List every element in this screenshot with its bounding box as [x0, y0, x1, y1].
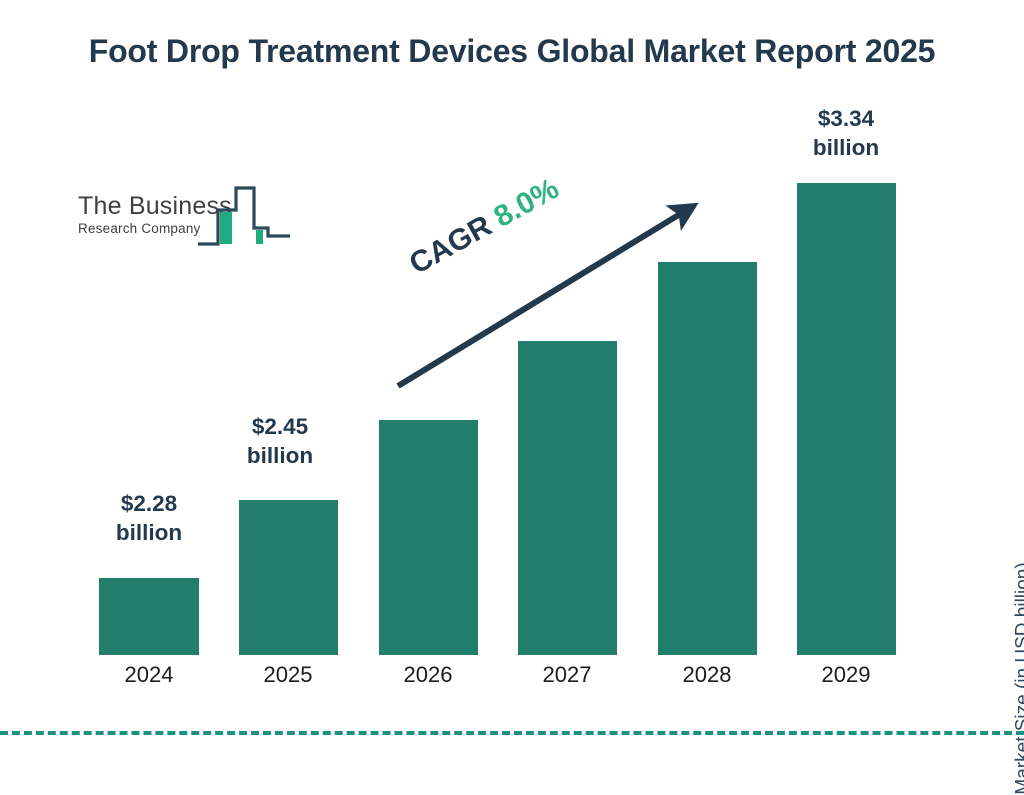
- growth-arrow-icon: [380, 190, 720, 395]
- x-tick-2026: 2026: [368, 662, 488, 688]
- bar-2029: [797, 183, 896, 655]
- x-tick-2028: 2028: [647, 662, 767, 688]
- footer-divider: [0, 731, 1024, 735]
- bar-2026: [379, 420, 478, 655]
- x-tick-2025: 2025: [228, 662, 348, 688]
- value-label-2024: $2.28 billion: [79, 490, 219, 547]
- bar-2024: [99, 578, 199, 655]
- value-label-2025: $2.45 billion: [210, 413, 350, 470]
- chart-page: Foot Drop Treatment Devices Global Marke…: [0, 0, 1024, 768]
- y-axis-title: Market Size (in USD billion): [1012, 562, 1024, 794]
- bar-2025: [239, 500, 338, 655]
- x-tick-2027: 2027: [507, 662, 627, 688]
- x-tick-2024: 2024: [89, 662, 209, 688]
- value-label-2029: $3.34 billion: [776, 105, 916, 162]
- x-tick-2029: 2029: [786, 662, 906, 688]
- bar-chart-plot: $2.28 billion $2.45 billion $3.34 billio…: [0, 0, 1024, 768]
